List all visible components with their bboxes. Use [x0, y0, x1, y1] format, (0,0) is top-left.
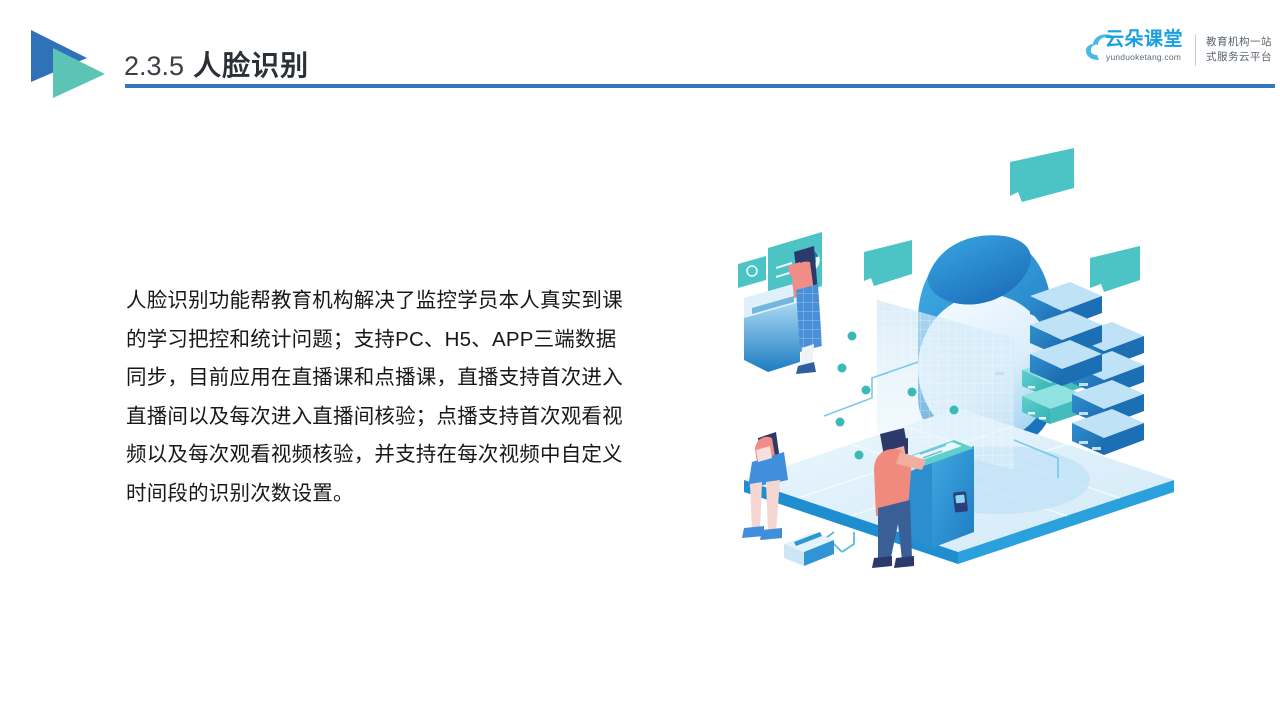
brand-tagline-line-2: 式服务云平台	[1206, 50, 1272, 65]
slide-header: 2.3.5 人脸识别 云朵课堂 yunduoketang.com 教育机构一站 …	[0, 0, 1280, 100]
speech-bubble-right	[1090, 246, 1140, 292]
face-recognition-illustration	[722, 140, 1192, 590]
brand-url: yunduoketang.com	[1106, 52, 1181, 62]
page-title: 2.3.5 人脸识别	[124, 44, 309, 84]
speech-bubble-top-right	[1010, 148, 1074, 202]
section-number: 2.3.5	[124, 51, 184, 82]
brand-logo: 云朵课堂 yunduoketang.com 教育机构一站 式服务云平台	[1083, 26, 1272, 74]
body-paragraph: 人脸识别功能帮教育机构解决了监控学员本人真实到课的学习把控和统计问题；支持PC、…	[126, 282, 626, 513]
brand-logo-primary: 云朵课堂 yunduoketang.com	[1083, 28, 1189, 72]
section-title: 人脸识别	[193, 44, 309, 84]
double-triangle-play-icon	[25, 28, 113, 100]
speech-bubble-mid-left	[864, 240, 912, 286]
brand-name: 云朵课堂	[1105, 30, 1183, 50]
title-underline-rule	[125, 84, 1275, 88]
brand-divider	[1195, 34, 1196, 66]
woman-at-dashboard	[738, 232, 822, 374]
brand-tagline: 教育机构一站 式服务云平台	[1206, 35, 1272, 65]
brand-tagline-line-1: 教育机构一站	[1206, 35, 1272, 50]
scanner-device	[784, 532, 854, 566]
